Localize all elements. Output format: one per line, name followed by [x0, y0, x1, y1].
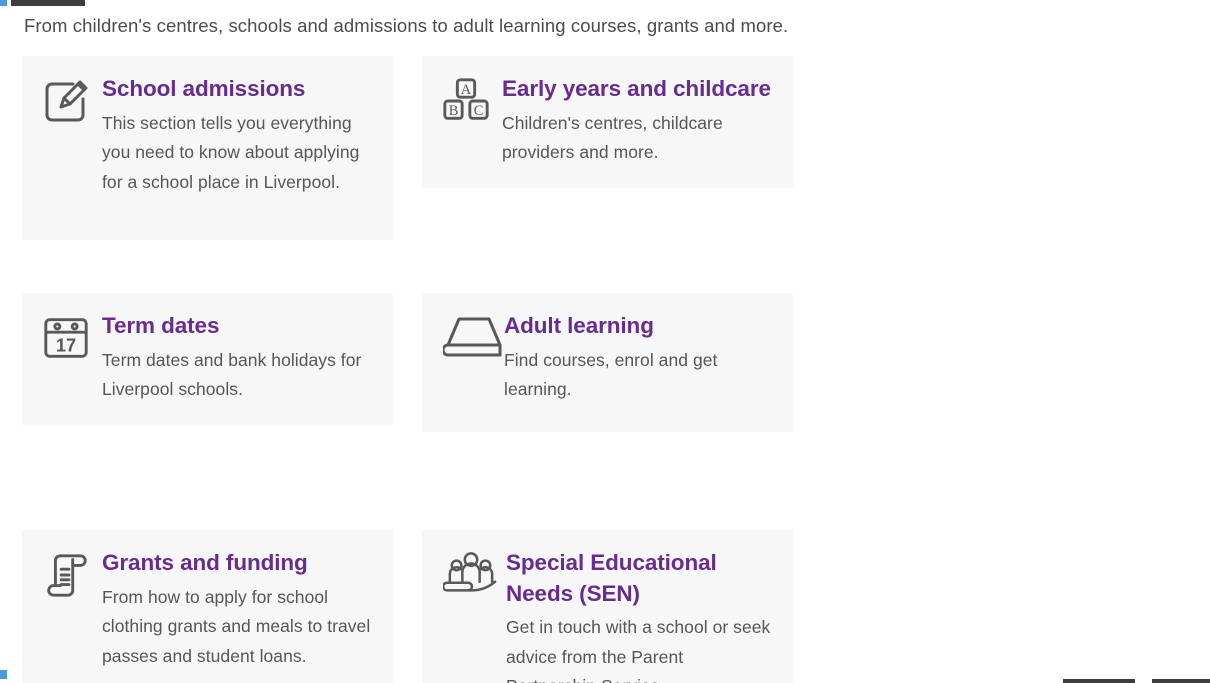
card-title: Adult learning — [504, 311, 777, 342]
card-description: Get in touch with a school or seek advic… — [506, 613, 777, 683]
card-grants-and-funding[interactable]: Grants and funding From how to apply for… — [22, 530, 393, 683]
calendar-17-icon: 17 — [38, 311, 94, 367]
svg-text:A: A — [461, 82, 472, 98]
card-description: Term dates and bank holidays for Liverpo… — [102, 346, 377, 405]
abc-blocks-icon: A B C — [438, 74, 494, 130]
card-early-years-and-childcare[interactable]: A B C Early years and childcare Children… — [422, 56, 793, 188]
card-term-dates[interactable]: 17 Term dates Term dates and bank holida… — [22, 293, 393, 425]
book-icon — [438, 311, 510, 367]
top-chrome-strip — [0, 0, 1210, 6]
card-body: Early years and childcare Children's cen… — [502, 74, 777, 168]
card-title: Special Educational Needs (SEN) — [506, 548, 777, 609]
card-body: Grants and funding From how to apply for… — [102, 548, 377, 671]
card-adult-learning[interactable]: Adult learning Find courses, enrol and g… — [422, 293, 793, 432]
svg-text:17: 17 — [56, 334, 76, 355]
page-root: From children's centres, schools and adm… — [0, 0, 1210, 683]
pencil-square-icon — [38, 74, 94, 130]
card-description: Children's centres, childcare providers … — [502, 109, 777, 168]
card-description: From how to apply for school clothing gr… — [102, 583, 377, 672]
svg-text:B: B — [449, 103, 459, 119]
bottom-blue-marker — [0, 670, 7, 679]
bottom-dark-bar-left — [1063, 679, 1135, 683]
card-body: Special Educational Needs (SEN) Get in t… — [506, 548, 777, 683]
card-description: Find courses, enrol and get learning. — [504, 346, 777, 405]
scroll-document-icon — [38, 548, 94, 604]
card-title: School admissions — [102, 74, 377, 105]
grid-cell: Special Educational Needs (SEN) Get in t… — [422, 530, 822, 683]
grid-cell: Adult learning Find courses, enrol and g… — [422, 293, 822, 501]
grid-cell: School admissions This section tells you… — [22, 56, 422, 266]
card-special-educational-needs[interactable]: Special Educational Needs (SEN) Get in t… — [422, 530, 793, 683]
bottom-dark-bar-right — [1152, 679, 1210, 683]
grid-cell: A B C Early years and childcare Children… — [422, 56, 822, 266]
card-body: School admissions This section tells you… — [102, 74, 377, 197]
card-description: This section tells you everything you ne… — [102, 109, 377, 198]
grid-cell: 17 Term dates Term dates and bank holida… — [22, 293, 422, 503]
svg-text:C: C — [474, 103, 484, 119]
top-dark-bar — [11, 0, 85, 6]
card-body: Adult learning Find courses, enrol and g… — [504, 311, 777, 405]
top-blue-marker — [0, 0, 7, 6]
card-school-admissions[interactable]: School admissions This section tells you… — [22, 56, 393, 240]
card-title: Early years and childcare — [502, 74, 777, 105]
topic-card-grid: School admissions This section tells you… — [22, 56, 1194, 683]
card-body: Term dates Term dates and bank holidays … — [102, 311, 377, 405]
card-title: Term dates — [102, 311, 377, 342]
intro-paragraph: From children's centres, schools and adm… — [24, 11, 1184, 41]
people-in-hand-icon — [438, 548, 504, 604]
card-title: Grants and funding — [102, 548, 377, 579]
grid-cell: Grants and funding From how to apply for… — [22, 530, 422, 683]
